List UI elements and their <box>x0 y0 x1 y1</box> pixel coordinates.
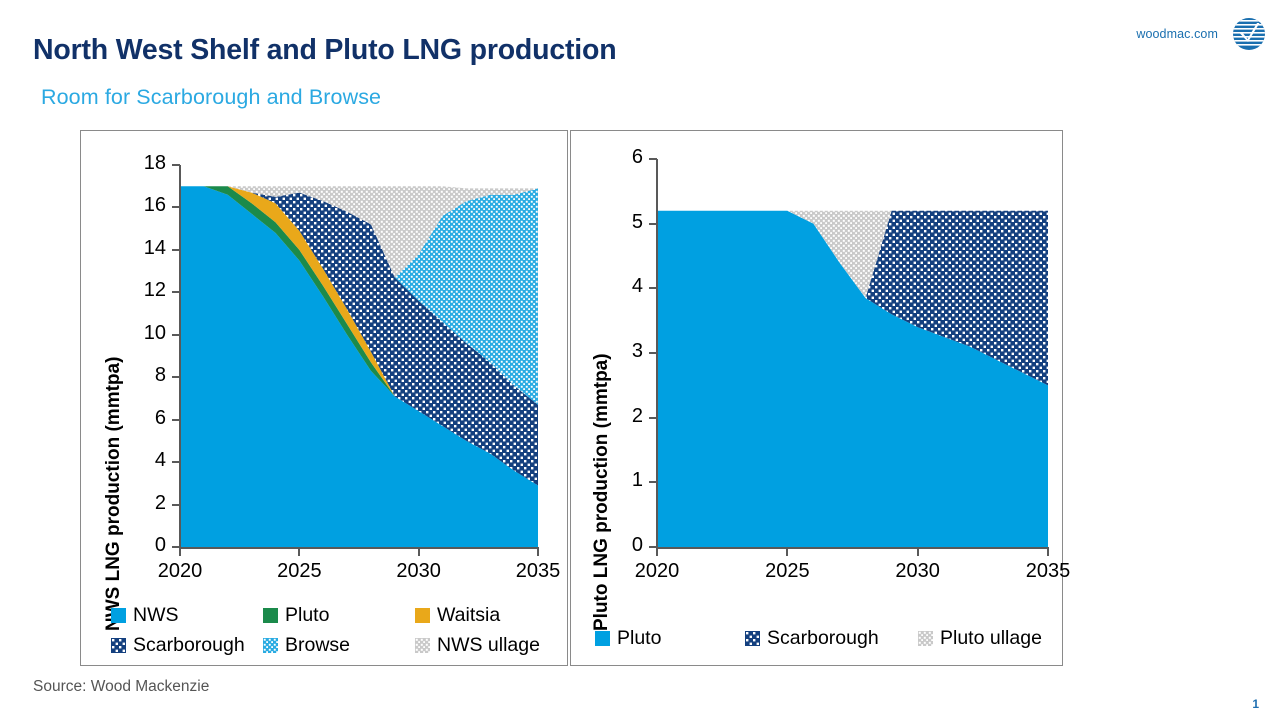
y-tick-label: 6 <box>599 146 643 169</box>
y-tick-label: 0 <box>599 534 643 557</box>
woodmac-site-label: woodmac.com <box>1136 27 1218 41</box>
legend-label: Scarborough <box>133 636 245 656</box>
x-tick-label: 2035 <box>1008 560 1088 583</box>
legend-swatch <box>415 638 430 653</box>
legend-swatch <box>745 631 760 646</box>
page-number: 1 <box>1252 697 1259 711</box>
woodmac-logo-icon <box>1232 17 1266 51</box>
brand-bar: woodmac.com <box>1136 17 1266 51</box>
x-tick <box>656 547 658 556</box>
y-tick-label: 6 <box>122 407 166 430</box>
y-tick <box>649 287 657 289</box>
y-tick-label: 4 <box>122 449 166 472</box>
legend-label: Pluto <box>285 606 329 626</box>
y-tick <box>172 206 180 208</box>
x-tick <box>1047 547 1049 556</box>
y-tick-label: 18 <box>122 152 166 175</box>
y-tick-label: 2 <box>599 405 643 428</box>
y-tick <box>172 419 180 421</box>
legend-item-right-1[interactable]: Scarborough <box>745 629 918 649</box>
x-tick <box>917 547 919 556</box>
legend-item-left-3[interactable]: Scarborough <box>111 636 263 656</box>
pluto-chart-panel: Pluto LNG production (mmtpa) 01234562020… <box>570 130 1063 666</box>
y-tick <box>172 249 180 251</box>
y-tick <box>649 352 657 354</box>
y-tick <box>649 158 657 160</box>
legend-swatch <box>595 631 610 646</box>
pluto-legend: Pluto Scarborough <box>595 629 1047 649</box>
y-tick <box>172 291 180 293</box>
x-axis-line <box>179 547 539 549</box>
x-axis-line <box>656 547 1049 549</box>
x-tick-label: 2020 <box>617 560 697 583</box>
x-tick <box>786 547 788 556</box>
x-tick-label: 2025 <box>259 560 339 583</box>
y-tick-label: 12 <box>122 279 166 302</box>
legend-swatch <box>263 638 278 653</box>
source-note: Source: Wood Mackenzie <box>33 678 209 696</box>
y-tick <box>649 223 657 225</box>
legend-label: Browse <box>285 636 350 656</box>
y-tick <box>172 504 180 506</box>
y-tick-label: 4 <box>599 275 643 298</box>
y-axis-line <box>179 165 181 548</box>
y-tick-label: 0 <box>122 534 166 557</box>
y-tick <box>172 334 180 336</box>
x-tick <box>298 547 300 556</box>
y-tick <box>172 164 180 166</box>
y-tick <box>649 481 657 483</box>
y-tick-label: 16 <box>122 194 166 217</box>
page-title: North West Shelf and Pluto LNG productio… <box>33 34 616 67</box>
legend-label: NWS <box>133 606 179 626</box>
nws-chart-panel: NWS LNG production (mmtpa) 0246810121416… <box>80 130 568 666</box>
x-tick-label: 2035 <box>498 560 578 583</box>
y-tick <box>172 461 180 463</box>
legend-item-right-2[interactable]: Pluto ullage <box>918 629 1078 649</box>
x-tick-label: 2030 <box>878 560 958 583</box>
nws-legend: NWS Pluto Waitsia <box>111 606 559 655</box>
legend-swatch <box>918 631 933 646</box>
legend-label: Waitsia <box>437 606 500 626</box>
legend-item-left-2[interactable]: Waitsia <box>415 606 567 626</box>
page-subtitle: Room for Scarborough and Browse <box>41 85 381 110</box>
x-tick-label: 2020 <box>140 560 220 583</box>
legend-swatch <box>111 638 126 653</box>
y-tick-label: 3 <box>599 340 643 363</box>
legend-item-left-1[interactable]: Pluto <box>263 606 415 626</box>
x-tick <box>179 547 181 556</box>
x-tick-label: 2030 <box>379 560 459 583</box>
legend-label: Scarborough <box>767 629 879 649</box>
legend-swatch <box>415 608 430 623</box>
y-tick-label: 1 <box>599 469 643 492</box>
y-tick-label: 10 <box>122 322 166 345</box>
y-tick <box>649 417 657 419</box>
legend-item-left-4[interactable]: Browse <box>263 636 415 656</box>
y-tick <box>172 376 180 378</box>
y-tick-label: 5 <box>599 211 643 234</box>
legend-swatch <box>111 608 126 623</box>
legend-label: Pluto ullage <box>940 629 1042 649</box>
legend-item-left-0[interactable]: NWS <box>111 606 263 626</box>
y-tick-label: 14 <box>122 237 166 260</box>
legend-item-right-0[interactable]: Pluto <box>595 629 745 649</box>
pluto-plot-area <box>657 159 1048 547</box>
x-tick <box>418 547 420 556</box>
y-tick-label: 8 <box>122 364 166 387</box>
y-tick-label: 2 <box>122 492 166 515</box>
x-tick-label: 2025 <box>747 560 827 583</box>
x-tick <box>537 547 539 556</box>
legend-item-left-5[interactable]: NWS ullage <box>415 636 567 656</box>
legend-swatch <box>263 608 278 623</box>
legend-label: Pluto <box>617 629 661 649</box>
legend-label: NWS ullage <box>437 636 540 656</box>
nws-plot-area <box>180 165 538 547</box>
